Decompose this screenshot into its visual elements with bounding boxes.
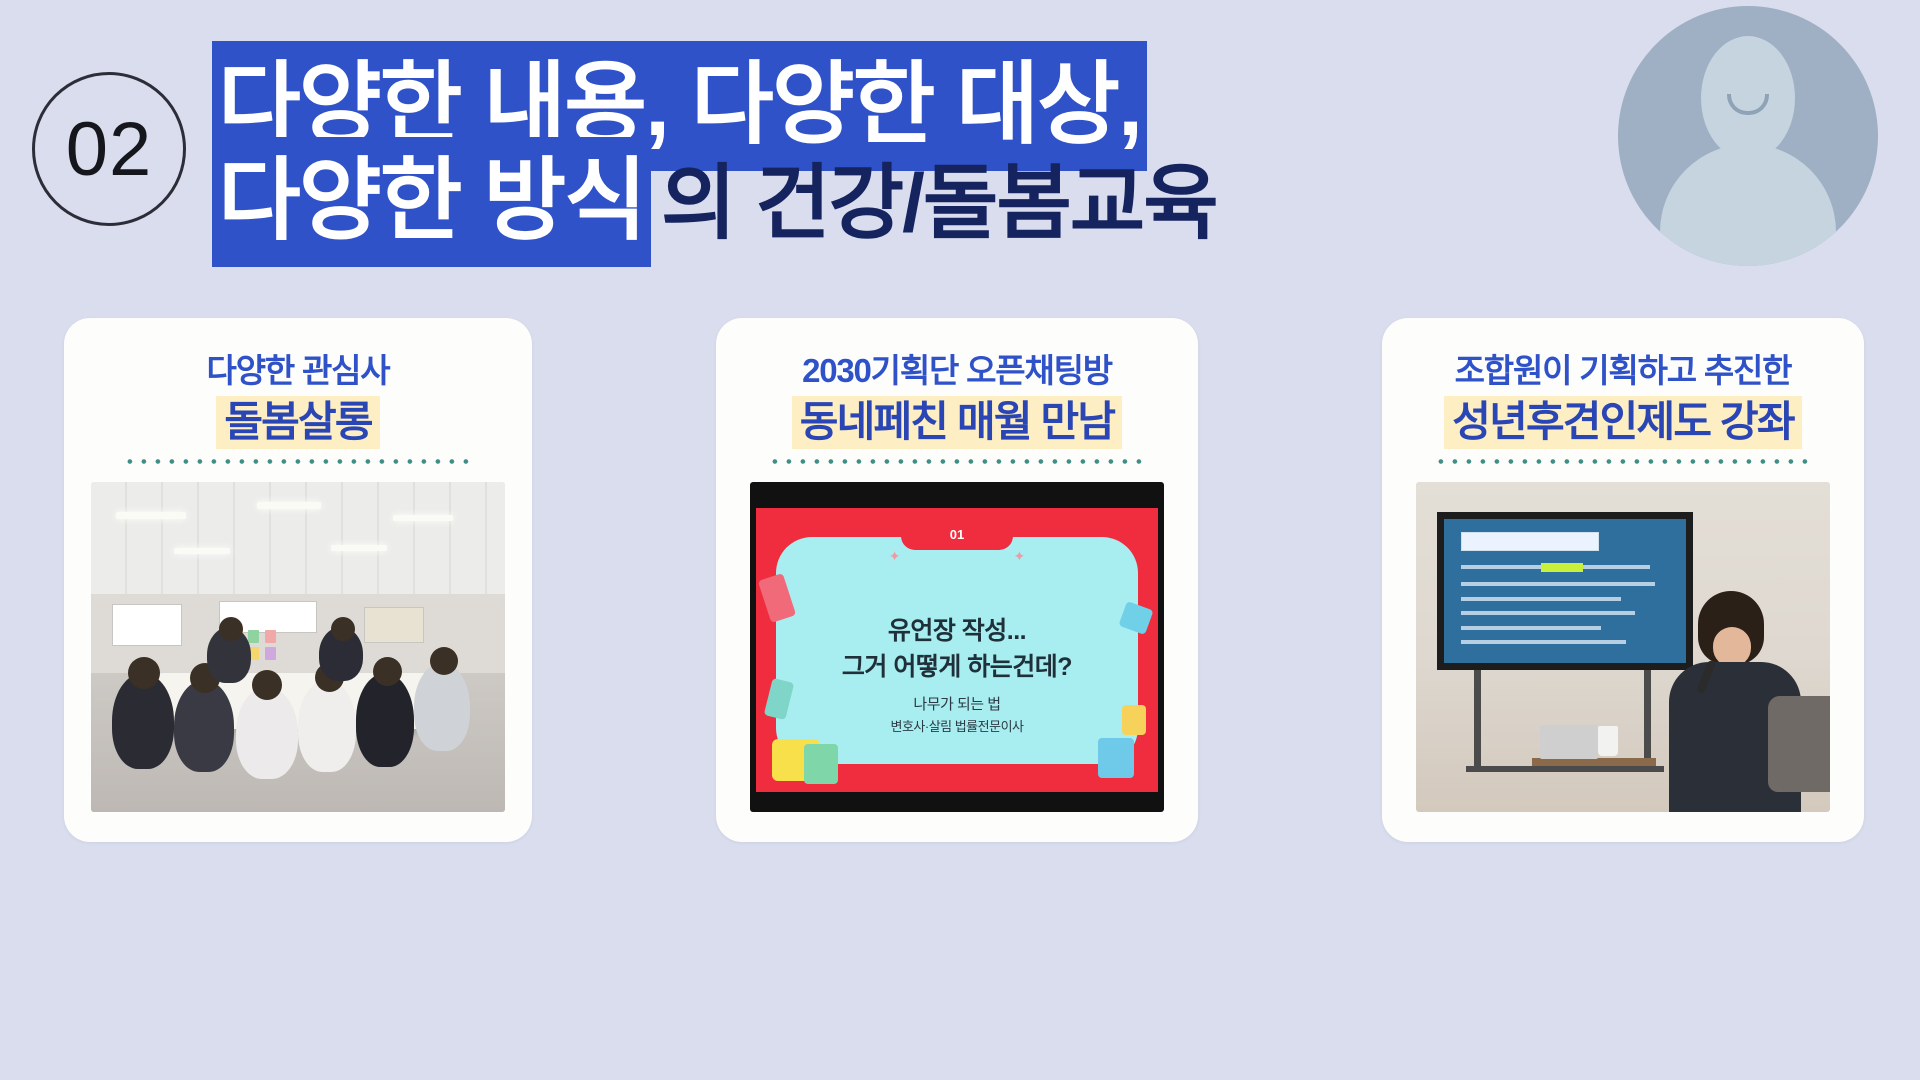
projector-text-line bbox=[1461, 626, 1602, 630]
photo-person-head bbox=[128, 657, 160, 689]
card-subtitle-text: 돌봄살롱 bbox=[216, 396, 379, 449]
slide-screen: 01 ✦ ✦ 유언장 작성... 그거 어떻게 하는건데? 나무가 되는 법 변… bbox=[756, 508, 1158, 792]
slide-line-4: 변호사·살림 법률전문이사 bbox=[756, 716, 1158, 735]
avatar-body bbox=[1660, 144, 1836, 266]
screen-stand-base bbox=[1466, 766, 1665, 772]
screen-stand-leg bbox=[1474, 670, 1481, 769]
gift-box-icon bbox=[1098, 738, 1134, 778]
photo-person bbox=[414, 663, 470, 751]
dotted-divider bbox=[1438, 459, 1808, 464]
card-subtitle: 성년후견인제도 강좌 bbox=[1444, 398, 1801, 445]
section-number: 02 bbox=[66, 106, 153, 193]
title-line-2: 다양한 방식의 건강/돌봄교육 bbox=[212, 156, 1352, 246]
card-subtitle-text: 성년후견인제도 강좌 bbox=[1444, 396, 1801, 449]
photo-lamp bbox=[393, 515, 453, 521]
photo-sticky-note bbox=[248, 630, 259, 643]
sparkle-icon: ✦ bbox=[1014, 548, 1026, 565]
photo-person bbox=[356, 673, 414, 767]
slide-line-3: 나무가 되는 법 bbox=[756, 693, 1158, 714]
projector-text-line bbox=[1461, 597, 1621, 601]
card-list: 다양한 관심사 돌봄살롱 bbox=[64, 318, 1864, 888]
card-subtitle: 돌봄살롱 bbox=[216, 398, 379, 445]
section-number-badge: 02 bbox=[32, 72, 186, 226]
photo-whiteboard bbox=[112, 604, 182, 646]
photo-person-head bbox=[373, 657, 402, 686]
sparkle-icon: ✦ bbox=[889, 548, 901, 565]
slide-header: 02 다양한 내용, 다양한 대상, 다양한 방식의 건강/돌봄교육 bbox=[0, 0, 1920, 360]
card-item[interactable]: 조합원이 기획하고 추진한 성년후견인제도 강좌 bbox=[1382, 318, 1864, 842]
card-subtitle: 동네페친 매월 만남 bbox=[792, 398, 1122, 445]
photo-person bbox=[236, 687, 298, 779]
card-item[interactable]: 2030기획단 오픈채팅방 동네페친 매월 만남 01 ✦ ✦ 유언장 작성..… bbox=[716, 318, 1198, 842]
dotted-divider bbox=[772, 459, 1142, 464]
projector-highlight bbox=[1541, 563, 1583, 572]
decoration-shape bbox=[1122, 705, 1146, 735]
screen-stand-leg bbox=[1644, 670, 1651, 769]
card-item[interactable]: 다양한 관심사 돌봄살롱 bbox=[64, 318, 532, 842]
projector-text-line bbox=[1461, 640, 1626, 644]
photo-person bbox=[174, 680, 234, 772]
projector-text-line bbox=[1461, 611, 1636, 615]
photo-lamp bbox=[331, 545, 387, 551]
dotted-divider bbox=[119, 459, 477, 464]
card-subtitle-text: 동네페친 매월 만남 bbox=[792, 396, 1122, 449]
photo-chair bbox=[1768, 696, 1830, 792]
photo-laptop bbox=[1540, 725, 1598, 759]
photo-sticky-note bbox=[265, 630, 276, 643]
card-heading: 다양한 관심사 bbox=[207, 352, 390, 390]
person-avatar-icon bbox=[1618, 6, 1878, 266]
slide-line-2: 그거 어떻게 하는건데? bbox=[756, 647, 1158, 683]
slide-line-1: 유언장 작성... bbox=[756, 611, 1158, 647]
photo-ceiling bbox=[91, 482, 505, 594]
projector-screen-title bbox=[1461, 532, 1599, 551]
card-heading: 조합원이 기획하고 추진한 bbox=[1455, 352, 1792, 390]
presentation-slide-photo: 01 ✦ ✦ 유언장 작성... 그거 어떻게 하는건데? 나무가 되는 법 변… bbox=[750, 482, 1164, 812]
meeting-room-photo bbox=[91, 482, 505, 812]
page-title: 다양한 내용, 다양한 대상, 다양한 방식의 건강/돌봄교육 bbox=[212, 60, 1352, 246]
photo-lamp bbox=[116, 512, 186, 519]
photo-person bbox=[298, 680, 356, 772]
photo-sticky-note bbox=[265, 647, 276, 660]
projector-screen bbox=[1437, 512, 1694, 670]
photo-lamp bbox=[174, 548, 230, 554]
photo-cup bbox=[1598, 726, 1618, 756]
lecture-photo bbox=[1416, 482, 1830, 812]
photo-poster bbox=[364, 607, 424, 643]
slide-page-number: 01 bbox=[901, 520, 1013, 550]
photo-lamp bbox=[257, 502, 321, 509]
title-plain-text: 의 건강/돌봄교육 bbox=[651, 158, 1217, 249]
card-heading: 2030기획단 오픈채팅방 bbox=[802, 352, 1112, 390]
title-highlight-2: 다양한 방식 bbox=[212, 137, 651, 267]
projector-text-line bbox=[1461, 582, 1655, 586]
gift-box-icon bbox=[804, 744, 838, 784]
